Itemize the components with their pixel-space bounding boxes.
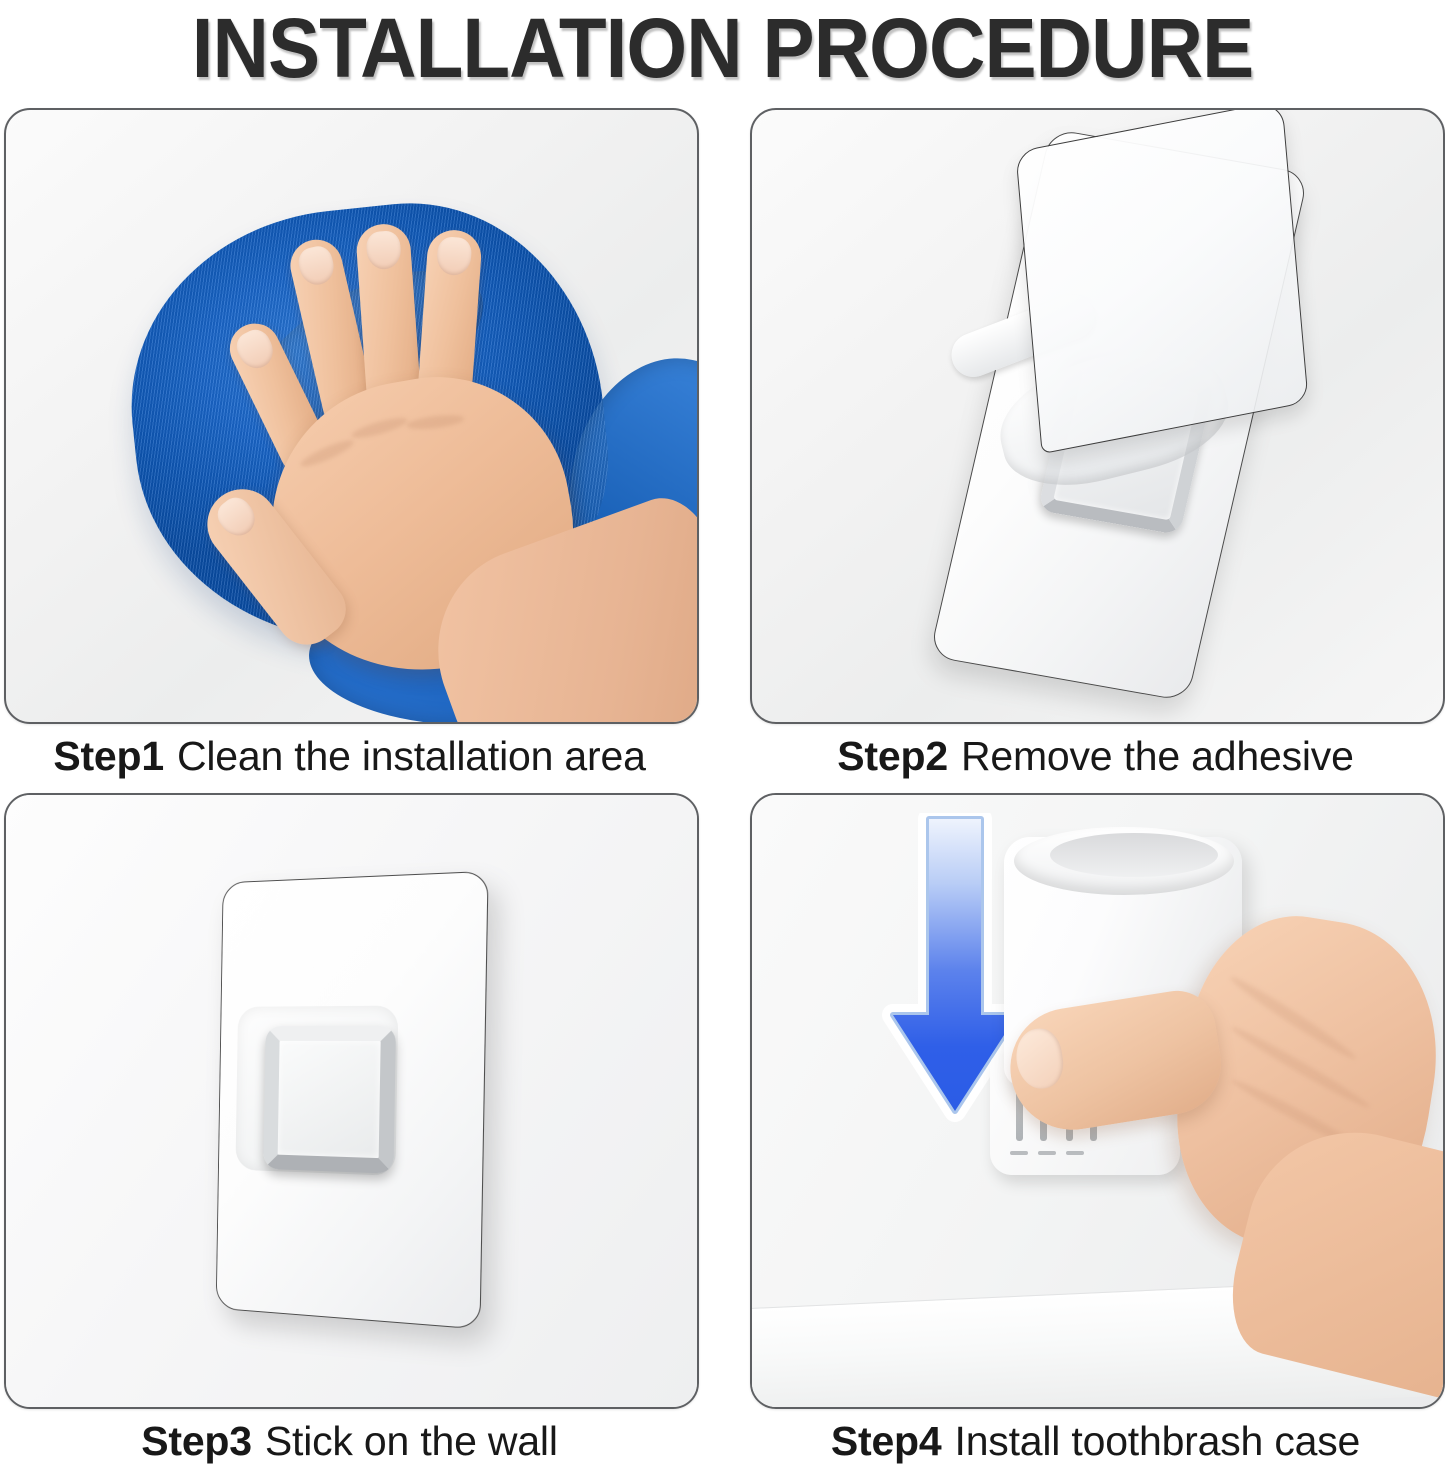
- knuckle-crease: [406, 413, 465, 432]
- hand: [1138, 891, 1445, 1361]
- case-rim: [1014, 827, 1234, 895]
- square-hook: [263, 1026, 396, 1174]
- step-cell-1: Step1 Clean the installation area: [4, 108, 699, 788]
- step-text-4: Install toothbrash case: [955, 1418, 1361, 1465]
- vent-dash: [1066, 1151, 1084, 1155]
- step-number-2: Step2: [837, 733, 948, 780]
- step-cell-2: Step2 Remove the adhesive: [750, 108, 1445, 788]
- fingernail: [296, 243, 338, 288]
- vent-dash: [1010, 1151, 1028, 1155]
- hook-recess: [235, 1006, 398, 1176]
- palm-crease: [1229, 1023, 1373, 1113]
- knuckle-crease: [350, 414, 409, 442]
- step-cell-4: Step4 Install toothbrash case: [750, 793, 1445, 1473]
- palm-crease: [1227, 972, 1359, 1064]
- knuckle-crease: [298, 436, 356, 471]
- fingernail: [365, 230, 402, 270]
- step-number-4: Step4: [831, 1418, 942, 1465]
- step-image-panel-4: [750, 793, 1445, 1409]
- hand-with-cloth-icon: [6, 110, 697, 722]
- peel-film-icon: [752, 110, 1443, 722]
- install-case-icon: [752, 795, 1443, 1407]
- step-image-panel-2: [750, 108, 1445, 724]
- adhesive-plate: [216, 871, 489, 1330]
- backing-film: [1015, 108, 1308, 454]
- step-cell-3: Step3 Stick on the wall: [4, 793, 699, 1473]
- vent-dash: [1038, 1151, 1056, 1155]
- fingernail: [436, 236, 473, 276]
- step-caption-4: Step4 Install toothbrash case: [750, 1409, 1441, 1473]
- step-caption-3: Step3 Stick on the wall: [4, 1409, 695, 1473]
- fingernail: [232, 325, 279, 374]
- step-text-3: Stick on the wall: [265, 1418, 558, 1465]
- wall-mounted-plate-icon: [6, 795, 697, 1407]
- step-caption-1: Step1 Clean the installation area: [4, 724, 695, 788]
- step-text-2: Remove the adhesive: [961, 733, 1354, 780]
- thumbnail: [212, 492, 262, 543]
- step-text-1: Clean the installation area: [177, 733, 646, 780]
- step-number-1: Step1: [53, 733, 164, 780]
- steps-grid: Step1 Clean the installation area Step2 …: [0, 104, 1445, 1464]
- step-number-3: Step3: [141, 1418, 252, 1465]
- page-title: INSTALLATION PROCEDURE: [51, 0, 1395, 96]
- thumbnail: [1012, 1026, 1067, 1092]
- hand: [194, 230, 664, 724]
- step-caption-2: Step2 Remove the adhesive: [750, 724, 1441, 788]
- step-image-panel-3: [4, 793, 699, 1409]
- step-image-panel-1: [4, 108, 699, 724]
- case-opening: [1050, 833, 1218, 877]
